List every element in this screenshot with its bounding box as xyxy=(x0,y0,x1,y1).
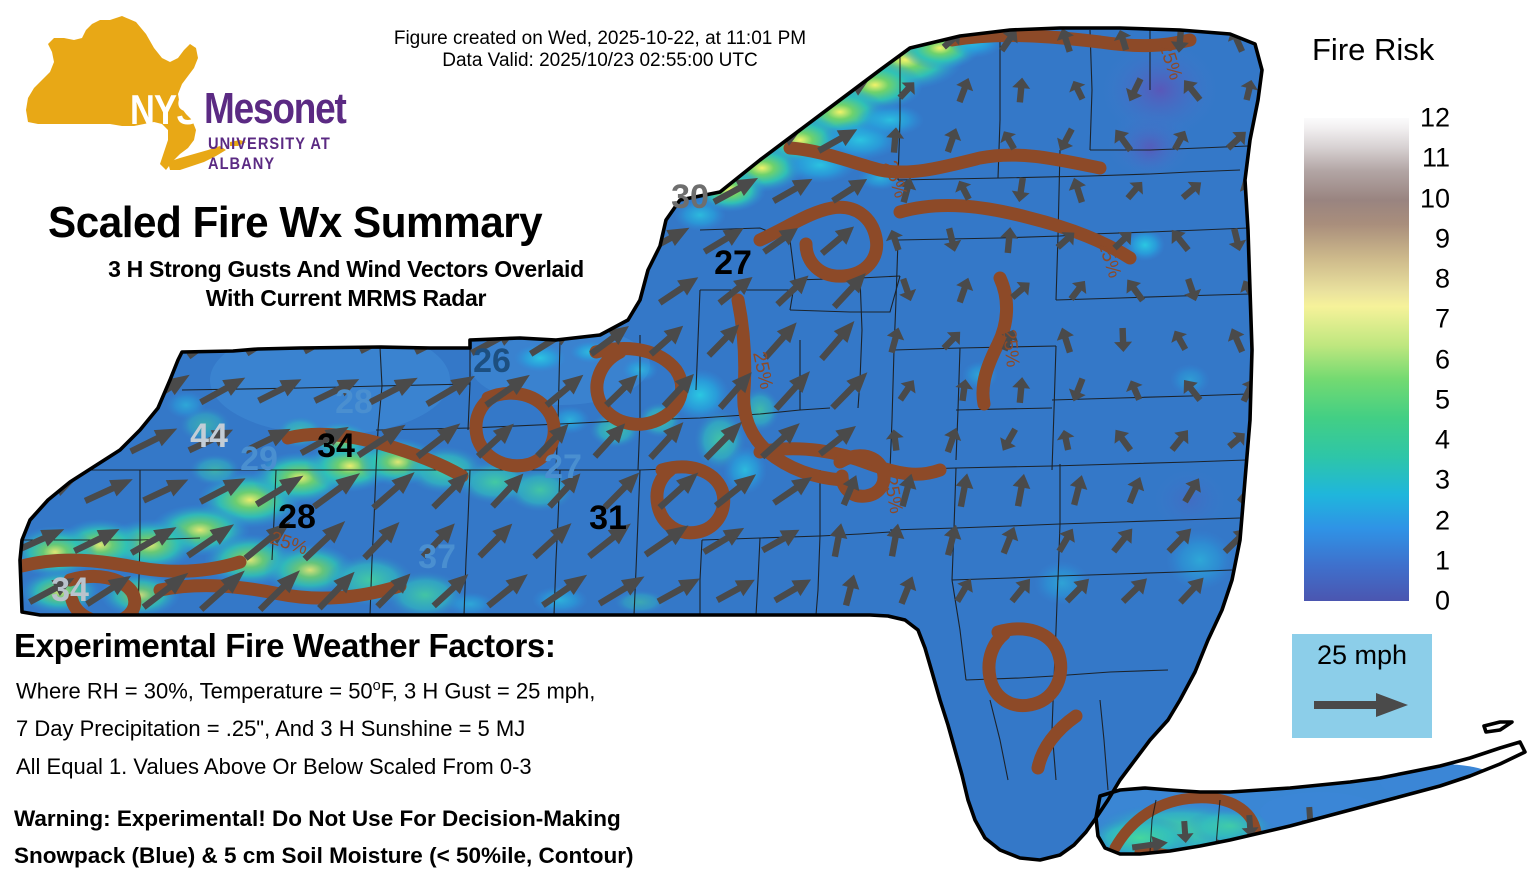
page-subtitle: 3 H Strong Gusts And Wind Vectors Overla… xyxy=(16,255,676,312)
page-title: Scaled Fire Wx Summary xyxy=(48,198,542,248)
colorbar-tick-7: 7 xyxy=(1435,304,1450,335)
wind-vector-arrow xyxy=(473,117,519,163)
gust-label: 29 xyxy=(240,442,278,476)
gust-label: 34 xyxy=(51,573,89,607)
factor-line-1: Where RH = 30%, Temperature = 50oF, 3 H … xyxy=(16,678,595,704)
gust-label: 27 xyxy=(544,450,582,484)
factors-heading: Experimental Fire Weather Factors: xyxy=(14,627,555,665)
colorbar-tick-0: 0 xyxy=(1435,586,1450,617)
factor-line-3: All Equal 1. Values Above Or Below Scale… xyxy=(16,754,532,780)
fire-risk-colorbar xyxy=(1304,118,1409,601)
warning-line-2: Snowpack (Blue) & 5 cm Soil Moisture (< … xyxy=(14,843,633,869)
wind-vector-arrow xyxy=(697,119,751,162)
colorbar-tick-labels: 1211109876543210 xyxy=(1418,104,1478,614)
colorbar-title: Fire Risk xyxy=(1312,32,1434,68)
logo-mesonet-text: Mesonet xyxy=(204,84,346,134)
factor-line-1b: F, 3 H Gust = 25 mph, xyxy=(381,678,596,703)
warning-line-1: Warning: Experimental! Do Not Use For De… xyxy=(14,806,621,832)
wind-vector-arrow xyxy=(1321,817,1339,840)
wind-vector-arrow xyxy=(531,118,576,161)
wind-vector-arrow xyxy=(711,67,760,112)
wind-vector-arrow xyxy=(767,68,819,112)
factor-line-2: 7 Day Precipitation = .25", And 3 H Suns… xyxy=(16,716,525,742)
colorbar-tick-3: 3 xyxy=(1435,465,1450,496)
colorbar-tick-11: 11 xyxy=(1422,143,1450,174)
subtitle-line-1: 3 H Strong Gusts And Wind Vectors Overla… xyxy=(16,255,676,284)
wind-vector-arrow xyxy=(414,115,463,166)
colorbar-tick-4: 4 xyxy=(1435,425,1450,456)
figure-created-line: Figure created on Wed, 2025-10-22, at 11… xyxy=(300,28,900,50)
wind-vector-arrow xyxy=(1232,571,1266,609)
gust-label: 44 xyxy=(190,419,228,453)
colorbar-tick-8: 8 xyxy=(1435,264,1450,295)
gust-label: 31 xyxy=(589,501,627,535)
figure-canvas: 25%25%25%25%25%25%25% 302726284429342728… xyxy=(0,0,1536,876)
wind-vector-arrow xyxy=(541,169,589,211)
wind-vector-arrow xyxy=(1381,801,1399,824)
figure-timestamp-block: Figure created on Wed, 2025-10-22, at 11… xyxy=(300,28,900,73)
wind-legend-label: 25 mph xyxy=(1292,640,1432,671)
wind-vector-legend: 25 mph xyxy=(1292,634,1432,738)
gust-label: 37 xyxy=(418,540,456,574)
gust-label: 30 xyxy=(671,180,709,214)
gust-label: 34 xyxy=(317,429,355,463)
logo-nys-text: NYS xyxy=(130,86,198,134)
arrow-right-icon xyxy=(1314,692,1410,718)
gust-label: 26 xyxy=(473,344,511,378)
long-island-fill xyxy=(1050,764,1536,876)
gust-label: 28 xyxy=(278,500,316,534)
wind-vector-arrow xyxy=(641,118,692,162)
wind-vector-arrow xyxy=(656,68,701,112)
colorbar-tick-1: 1 xyxy=(1435,545,1450,576)
wind-vector-arrow xyxy=(543,67,588,113)
wind-vector-arrow xyxy=(1441,785,1459,808)
wind-vector-arrow xyxy=(596,169,648,211)
subtitle-line-2: With Current MRMS Radar xyxy=(16,284,676,313)
wind-vector-arrow xyxy=(600,68,643,112)
colorbar-tick-2: 2 xyxy=(1435,505,1450,536)
logo-university-text: UNIVERSITY AT ALBANY xyxy=(208,134,371,174)
gust-label: 27 xyxy=(714,246,752,280)
data-valid-line: Data Valid: 2025/10/23 02:55:00 UTC xyxy=(300,50,900,72)
gust-label: 28 xyxy=(335,385,373,419)
colorbar-tick-9: 9 xyxy=(1435,223,1450,254)
factor-line-1a: Where RH = 30%, Temperature = 50 xyxy=(16,678,373,703)
colorbar-tick-6: 6 xyxy=(1435,344,1450,375)
contour-label: 25% xyxy=(998,328,1023,368)
wind-vector-arrow xyxy=(1491,769,1509,792)
wind-vector-arrow xyxy=(587,118,634,161)
degree-symbol: o xyxy=(373,678,381,694)
colorbar-tick-5: 5 xyxy=(1435,384,1450,415)
colorbar-tick-12: 12 xyxy=(1420,103,1450,134)
colorbar-tick-10: 10 xyxy=(1420,183,1450,214)
